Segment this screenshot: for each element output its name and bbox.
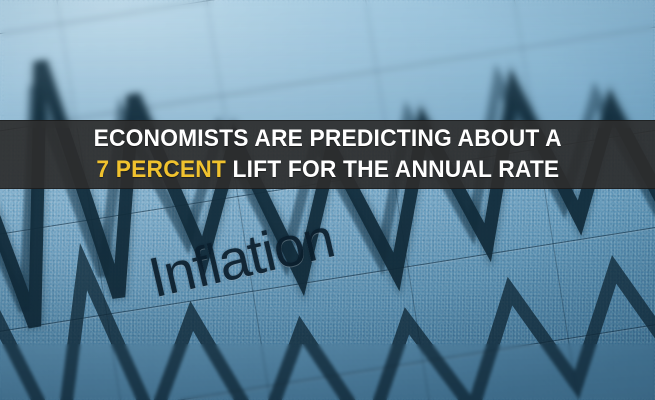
photo-background: Inflation	[0, 0, 655, 400]
headline-highlight-text: 7 PERCENT	[96, 156, 226, 183]
headline-line-2: 7 PERCENT LIFT FOR THE ANNUAL RATE	[96, 155, 559, 185]
banner-image: Inflation ECONOMISTS ARE PREDICTING ABOU…	[0, 0, 655, 400]
band-bottom-edge	[0, 188, 655, 189]
band-top-edge	[0, 120, 655, 121]
photo-vignette	[0, 0, 655, 400]
headline-line-1: ECONOMISTS ARE PREDICTING ABOUT A	[93, 124, 561, 154]
headline-line-2-rest: LIFT FOR THE ANNUAL RATE	[226, 156, 559, 183]
headline-band: ECONOMISTS ARE PREDICTING ABOUT A 7 PERC…	[0, 120, 655, 189]
